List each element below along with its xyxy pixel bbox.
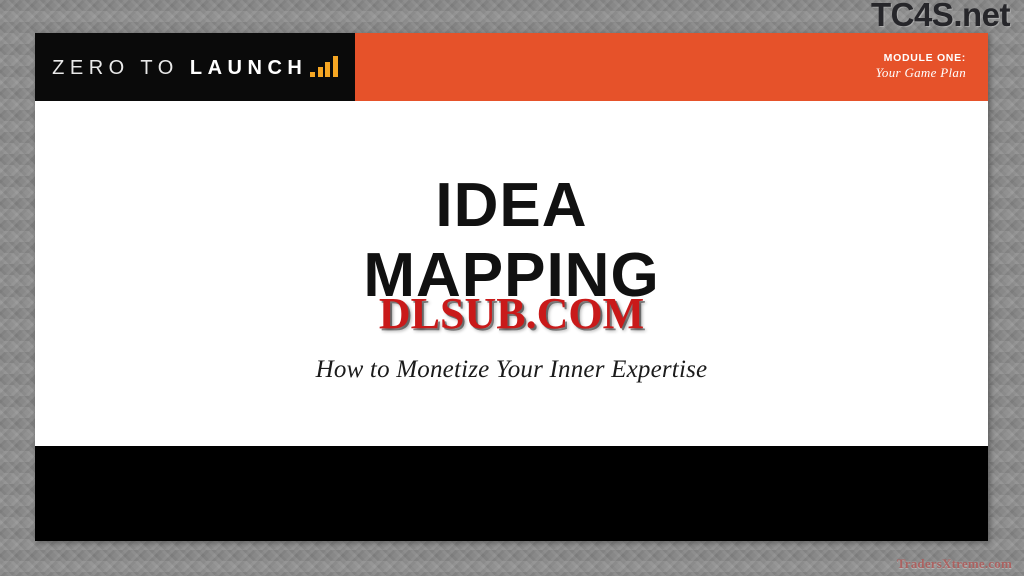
- module-info: MODULE ONE: Your Game Plan: [355, 33, 988, 101]
- logo-text-launch: LAUNCH: [190, 57, 307, 79]
- logo-text-zero-to: ZERO TO: [52, 57, 190, 79]
- slide-header: ZERO TO LAUNCH MODULE ONE: Your Game Pla…: [35, 33, 988, 101]
- slide-body: IDEA MAPPING How to Monetize Your Inner …: [35, 101, 988, 446]
- brand-logo: ZERO TO LAUNCH: [35, 33, 355, 101]
- module-label: MODULE ONE:: [884, 52, 966, 65]
- bar-chart-icon-bar-4: [333, 56, 338, 77]
- logo-lockup: ZERO TO LAUNCH: [52, 58, 338, 78]
- bar-chart-icon-bar-1: [310, 72, 315, 77]
- slide-title: IDEA MAPPING: [35, 171, 988, 311]
- presentation-slide: ZERO TO LAUNCH MODULE ONE: Your Game Pla…: [35, 33, 988, 541]
- module-subtitle: Your Game Plan: [876, 65, 966, 81]
- slide-footer-bar: [35, 446, 988, 541]
- bar-chart-icon: [310, 57, 338, 77]
- bar-chart-icon-bar-3: [325, 62, 330, 77]
- slide-subtitle: How to Monetize Your Inner Expertise: [35, 356, 988, 384]
- slide-title-line-1: IDEA: [35, 171, 988, 241]
- slide-title-line-2: MAPPING: [35, 241, 988, 311]
- logo-text: ZERO TO LAUNCH: [52, 58, 307, 78]
- bar-chart-icon-bar-2: [318, 67, 323, 77]
